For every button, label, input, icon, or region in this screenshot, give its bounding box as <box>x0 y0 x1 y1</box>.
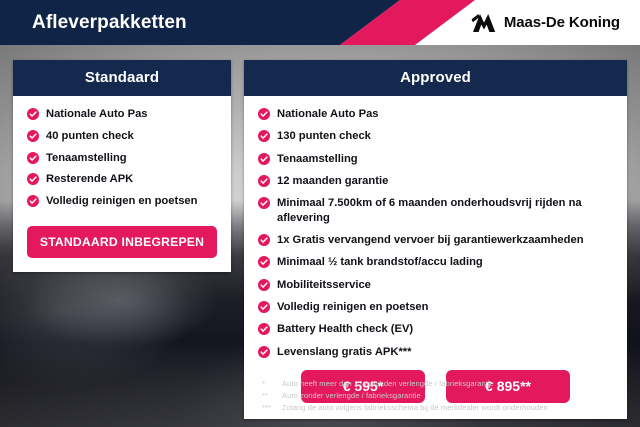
check-circle-icon <box>258 130 270 142</box>
check-circle-icon <box>27 195 39 207</box>
check-circle-icon <box>258 323 270 335</box>
feature-label: 40 punten check <box>46 129 134 144</box>
card-title-approved: Approved <box>244 60 627 96</box>
feature-item: Tenaamstelling <box>258 152 613 167</box>
feature-label: 130 punten check <box>277 129 371 144</box>
footnote-row: **Auto zonder verlengde / fabrieksgarant… <box>262 390 622 402</box>
feature-item: Mobiliteitsservice <box>258 278 613 293</box>
check-circle-icon <box>27 152 39 164</box>
check-circle-icon <box>258 153 270 165</box>
check-circle-icon <box>258 234 270 246</box>
feature-item: Resterende APK <box>27 172 217 187</box>
package-card-approved: Approved Nationale Auto Pas130 punten ch… <box>244 60 627 419</box>
footnotes: *Auto heeft meer dan 12 maanden verlengd… <box>262 378 622 413</box>
feature-item: Minimaal 7.500km of 6 maanden onderhouds… <box>258 196 613 226</box>
feature-item: Volledig reinigen en poetsen <box>258 300 613 315</box>
footnote-text: Auto heeft meer dan 12 maanden verlengde… <box>282 378 494 390</box>
feature-label: Levenslang gratis APK*** <box>277 345 412 360</box>
check-circle-icon <box>258 197 270 209</box>
check-circle-icon <box>27 108 39 120</box>
feature-item: Tenaamstelling <box>27 151 217 166</box>
feature-item: Minimaal ½ tank brandstof/accu lading <box>258 255 613 270</box>
feature-label: Battery Health check (EV) <box>277 322 413 337</box>
feature-item: Nationale Auto Pas <box>258 107 613 122</box>
footnote-row: ***Zolang de auto volgens fabrieksschema… <box>262 402 622 414</box>
brand-logo: Maas-De Koning <box>471 0 620 45</box>
card-title-standaard: Standaard <box>13 60 231 96</box>
maas-de-koning-m-logo-icon <box>471 13 497 33</box>
feature-item: 130 punten check <box>258 129 613 144</box>
footnote-row: *Auto heeft meer dan 12 maanden verlengd… <box>262 378 622 390</box>
footnote-text: Zolang de auto volgens fabrieksschema bi… <box>282 402 548 414</box>
feature-label: Minimaal ½ tank brandstof/accu lading <box>277 255 483 270</box>
check-circle-icon <box>258 108 270 120</box>
feature-label: Nationale Auto Pas <box>277 107 379 122</box>
check-circle-icon <box>258 301 270 313</box>
feature-item: 12 maanden garantie <box>258 174 613 189</box>
feature-item: 40 punten check <box>27 129 217 144</box>
feature-label: Volledig reinigen en poetsen <box>46 194 197 209</box>
footnote-marker: *** <box>262 402 282 414</box>
check-circle-icon <box>258 256 270 268</box>
feature-label: Resterende APK <box>46 172 133 187</box>
check-circle-icon <box>27 130 39 142</box>
footnote-text: Auto zonder verlengde / fabrieksgarantie <box>282 390 421 402</box>
feature-list-approved: Nationale Auto Pas130 punten checkTenaam… <box>258 107 613 359</box>
page-title: Afleverpakketten <box>32 0 187 45</box>
feature-label: Minimaal 7.500km of 6 maanden onderhouds… <box>277 196 613 226</box>
brand-name: Maas-De Koning <box>504 14 620 31</box>
feature-item: Levenslang gratis APK*** <box>258 345 613 360</box>
check-circle-icon <box>258 279 270 291</box>
package-card-standaard: Standaard Nationale Auto Pas40 punten ch… <box>13 60 231 272</box>
footnote-marker: * <box>262 378 282 390</box>
card-body-approved: Nationale Auto Pas130 punten checkTenaam… <box>244 96 627 419</box>
feature-label: 12 maanden garantie <box>277 174 388 189</box>
feature-item: 1x Gratis vervangend vervoer bij garanti… <box>258 233 613 248</box>
feature-item: Nationale Auto Pas <box>27 107 217 122</box>
footnote-marker: ** <box>262 390 282 402</box>
check-circle-icon <box>258 346 270 358</box>
feature-label: Volledig reinigen en poetsen <box>277 300 428 315</box>
check-circle-icon <box>258 175 270 187</box>
card-body-standaard: Nationale Auto Pas40 punten checkTenaams… <box>13 96 231 272</box>
feature-list-standaard: Nationale Auto Pas40 punten checkTenaams… <box>27 107 217 209</box>
feature-item: Volledig reinigen en poetsen <box>27 194 217 209</box>
feature-label: Mobiliteitsservice <box>277 278 371 293</box>
feature-label: Tenaamstelling <box>46 151 127 166</box>
feature-label: Tenaamstelling <box>277 152 358 167</box>
standaard-inbegrepen-button[interactable]: STANDAARD INBEGREPEN <box>27 226 217 258</box>
feature-label: Nationale Auto Pas <box>46 107 148 122</box>
check-circle-icon <box>27 173 39 185</box>
feature-item: Battery Health check (EV) <box>258 322 613 337</box>
page-header: Afleverpakketten Maas-De Koning <box>0 0 640 45</box>
feature-label: 1x Gratis vervangend vervoer bij garanti… <box>277 233 584 248</box>
